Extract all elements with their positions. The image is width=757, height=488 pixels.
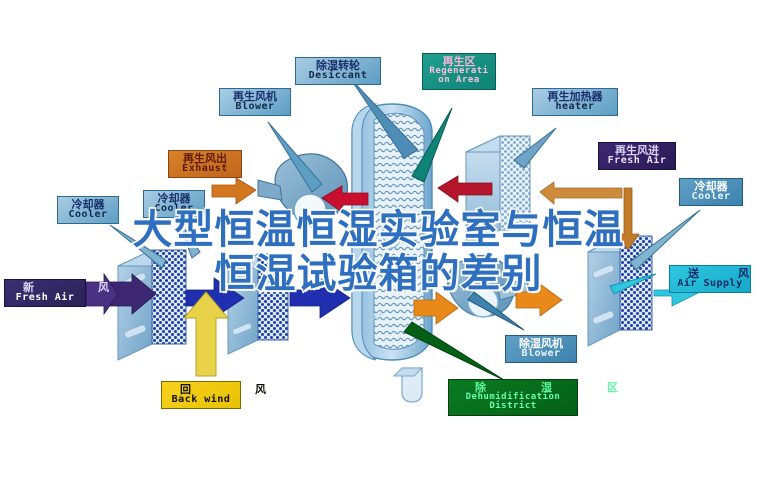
cooler-coil-2 xyxy=(228,254,288,354)
label-cooler-right-en: Cooler xyxy=(684,192,738,202)
label-regeneration-heater-en: heater xyxy=(537,102,613,112)
label-air-supply-en: Air Supply xyxy=(674,279,746,289)
label-cooler-left-1-en: Cooler xyxy=(62,210,114,220)
label-dehumidification-area[interactable]: 除 湿 区 Dehumidification District xyxy=(448,379,578,416)
label-dehumidification-area-en2: District xyxy=(453,402,573,411)
label-desiccant-rotor[interactable]: 除湿转轮 Desiccant xyxy=(295,57,381,85)
schematic-canvas: xt xyxy=(0,0,757,488)
label-regeneration-exhaust-en: Exhaust xyxy=(173,164,237,174)
label-dehumidify-blower[interactable]: 除湿风机 Blower xyxy=(505,335,577,363)
label-cooler-left-2[interactable]: 冷却器 Cooler xyxy=(143,190,205,218)
label-regeneration-heater[interactable]: 再生加热器 heater xyxy=(532,88,618,116)
label-regeneration-fresh-air-en: Fresh Air xyxy=(603,156,671,166)
label-cooler-left-1[interactable]: 冷却器 Cooler xyxy=(57,196,119,224)
label-cooler-right[interactable]: 冷却器 Cooler xyxy=(679,178,743,206)
label-desiccant-rotor-en: Desiccant xyxy=(300,71,376,81)
label-fresh-air-inlet[interactable]: 新 风 Fresh Air xyxy=(4,279,86,307)
svg-text:xt: xt xyxy=(372,310,384,323)
label-regeneration-area-en2: on Area xyxy=(427,76,491,85)
label-air-supply[interactable]: 送 风 Air Supply xyxy=(669,265,751,293)
label-regeneration-exhaust[interactable]: 再生风出 Exhaust xyxy=(168,150,242,178)
label-fresh-air-inlet-en: Fresh Air xyxy=(9,293,81,303)
label-regeneration-blower-en: Blower xyxy=(224,102,286,112)
desiccant-wheel: xt xyxy=(352,104,432,360)
label-regeneration-fresh-air[interactable]: 再生风进 Fresh Air xyxy=(598,142,676,170)
label-back-wind[interactable]: 回 风 Back wind xyxy=(161,381,241,409)
drain-pan xyxy=(394,368,422,402)
label-regeneration-area[interactable]: 再生区 Regenerati on Area xyxy=(422,53,496,90)
heater-inlet-arrow xyxy=(540,182,622,204)
label-dehumidify-blower-en: Blower xyxy=(510,349,572,359)
process-arrow-2 xyxy=(290,278,350,318)
exhaust-arrow xyxy=(212,178,256,204)
label-back-wind-en: Back wind xyxy=(166,395,236,405)
label-cooler-left-2-en: Cooler xyxy=(148,204,200,214)
label-regeneration-blower[interactable]: 再生风机 Blower xyxy=(219,88,291,116)
